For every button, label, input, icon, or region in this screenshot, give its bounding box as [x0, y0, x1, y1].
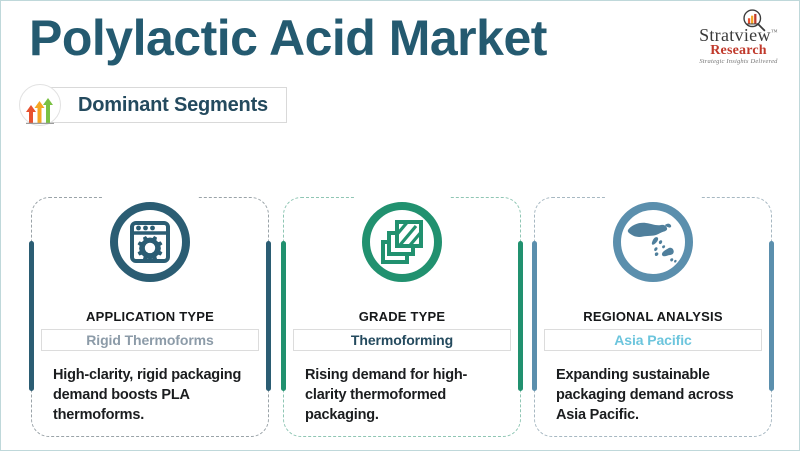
- brand-logo: Stratview™ Research Strategic Insights D…: [686, 9, 791, 67]
- card-title: APPLICATION TYPE: [31, 309, 269, 324]
- logo-trademark: ™: [771, 28, 778, 36]
- infographic-page: Polylactic Acid Market Stratview™ Resear…: [0, 0, 800, 451]
- page-title: Polylactic Acid Market: [29, 9, 547, 67]
- card-title: REGIONAL ANALYSIS: [534, 309, 772, 324]
- card-pill: Asia Pacific: [544, 329, 762, 351]
- badge-box: Dominant Segments: [49, 87, 287, 123]
- card-body-text: Expanding sustainable packaging demand a…: [556, 365, 756, 425]
- card-body-text: Rising demand for high-clarity thermofor…: [305, 365, 505, 425]
- logo-subname: Research: [686, 43, 791, 59]
- card-body-text: High-clarity, rigid packaging demand boo…: [53, 365, 253, 425]
- card-pill: Rigid Thermoforms: [41, 329, 259, 351]
- card-pill-label: Asia Pacific: [614, 332, 691, 348]
- card-pill-label: Thermoforming: [351, 332, 453, 348]
- card-regional-analysis[interactable]: REGIONAL ANALYSIS Asia Pacific Expanding…: [534, 197, 772, 437]
- card-title: GRADE TYPE: [283, 309, 521, 324]
- card-application-type[interactable]: APPLICATION TYPE Rigid Thermoforms High-…: [31, 197, 269, 437]
- layered-squares-icon: [357, 197, 447, 287]
- card-grade-type[interactable]: GRADE TYPE Thermoforming Rising demand f…: [283, 197, 521, 437]
- card-pill-label: Rigid Thermoforms: [86, 332, 213, 348]
- asia-pacific-map-icon: [608, 197, 698, 287]
- badge-label: Dominant Segments: [78, 94, 268, 117]
- segment-cards: APPLICATION TYPE Rigid Thermoforms High-…: [1, 141, 800, 446]
- ascending-arrows-icon: [19, 84, 61, 126]
- logo-tagline: Strategic Insights Delivered: [686, 58, 791, 65]
- dominant-segments-badge: Dominant Segments: [19, 83, 287, 127]
- card-pill: Thermoforming: [293, 329, 511, 351]
- browser-gear-icon: [105, 197, 195, 287]
